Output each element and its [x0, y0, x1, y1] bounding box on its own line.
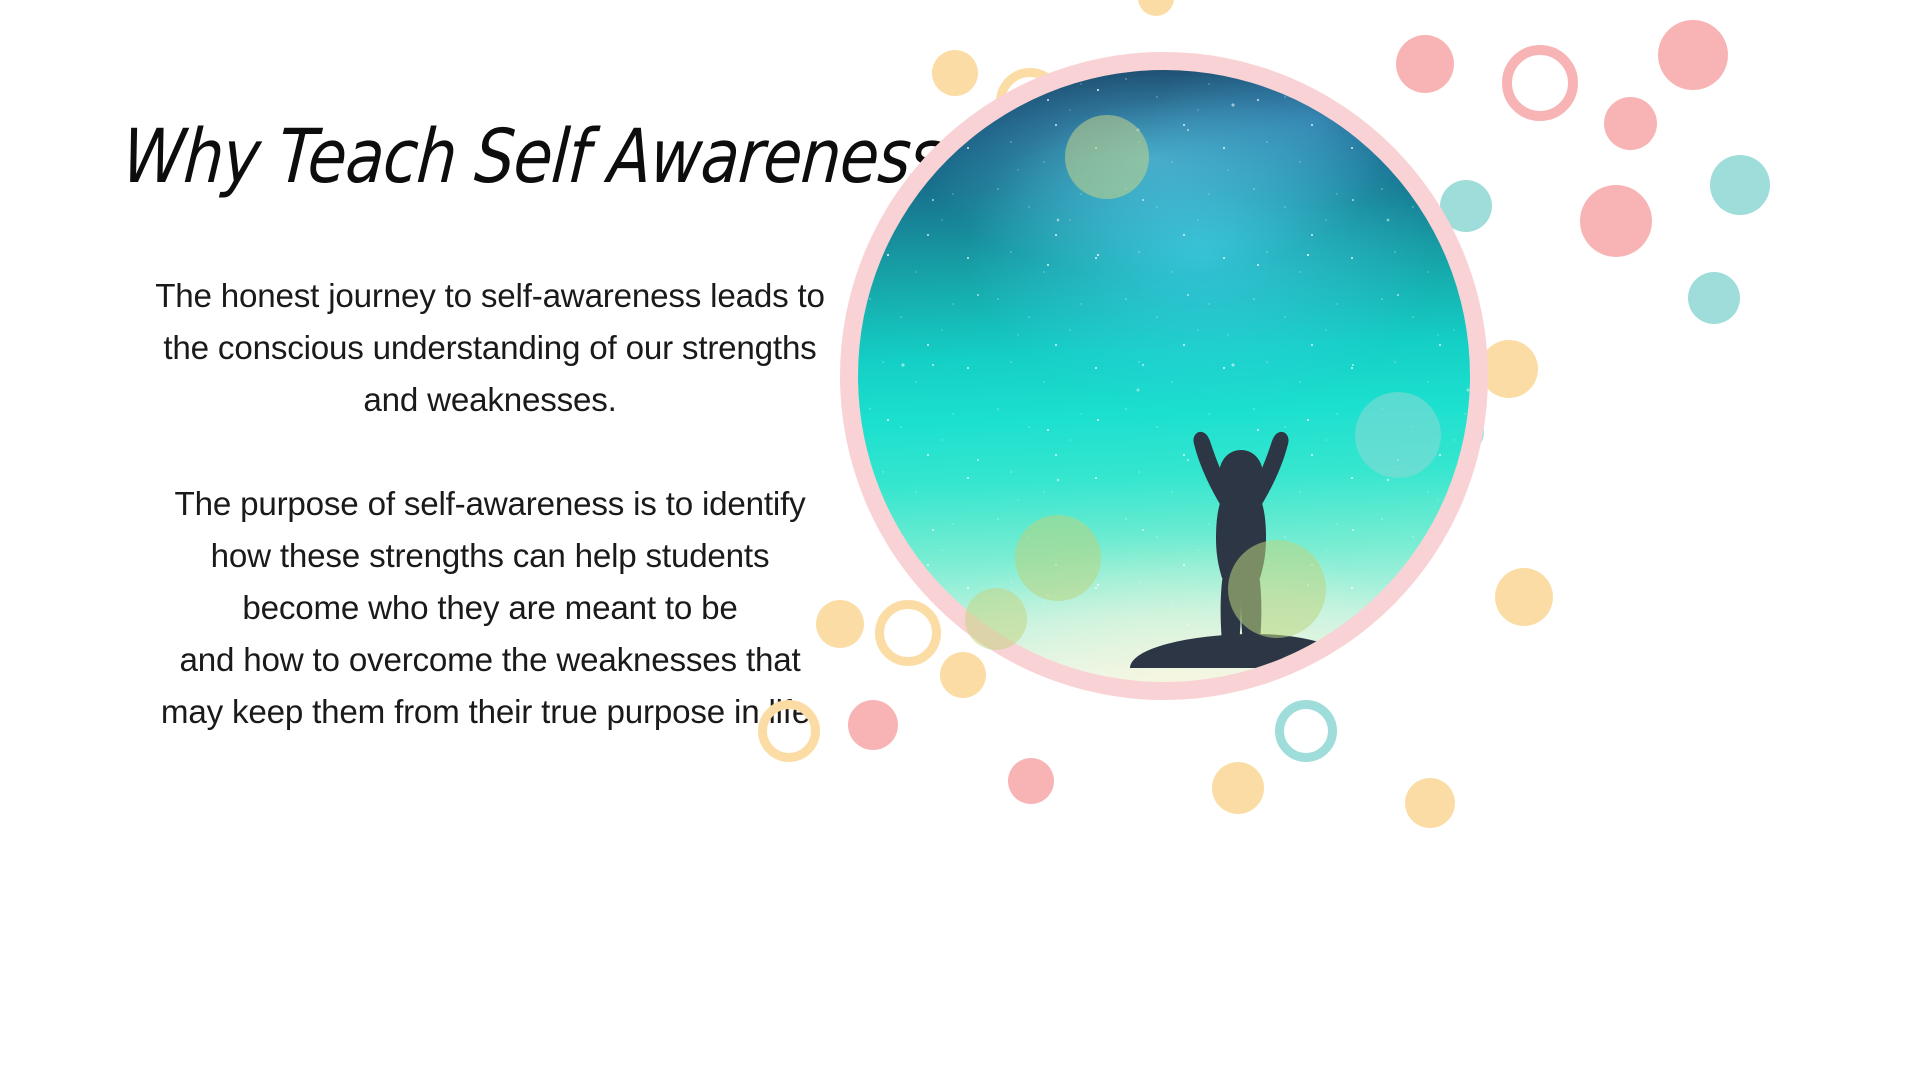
peach-dot-6	[1212, 762, 1264, 814]
salmon-dot-6	[1008, 758, 1054, 804]
teal-ring-1	[1275, 700, 1337, 762]
peach-dot-5	[1495, 568, 1553, 626]
green-dot-on-photo-1	[1065, 115, 1149, 199]
peach-dot-10	[1138, 0, 1174, 16]
salmon-dot-4	[1580, 185, 1652, 257]
salmon-dot-2	[1604, 97, 1657, 150]
body-paragraph-1: The honest journey to self-awareness lea…	[99, 271, 881, 427]
paragraph-2-line-4: and how to overcome the weaknesses that	[99, 635, 881, 687]
green-dot-on-photo-3	[965, 588, 1027, 650]
paragraph-1-line-3: and weaknesses.	[99, 375, 881, 427]
paragraph-2-line-2: how these strengths can help students	[99, 531, 881, 583]
teal-dot-3	[1710, 155, 1770, 215]
galaxy-sky-photo	[858, 70, 1470, 682]
teal-dot-on-photo-1	[1355, 392, 1441, 478]
circular-photo-frame	[840, 52, 1488, 700]
body-paragraph-2: The purpose of self-awareness is to iden…	[99, 479, 881, 739]
peach-dot-7	[1405, 778, 1455, 828]
page-title: Why Teach Self Awareness?	[92, 113, 888, 199]
paragraph-1-line-2: the conscious understanding of our stren…	[99, 323, 881, 375]
peach-dot-8	[816, 600, 864, 648]
green-dot-on-photo-4	[1228, 540, 1326, 638]
salmon-dot-3	[1658, 20, 1728, 90]
peach-ring-3	[758, 700, 820, 762]
salmon-dot-5	[848, 700, 898, 750]
decorative-artwork-cluster	[780, 0, 1920, 1080]
paragraph-spacer	[95, 427, 885, 479]
salmon-ring-1	[1502, 45, 1578, 121]
paragraph-2-line-1: The purpose of self-awareness is to iden…	[99, 479, 881, 531]
presentation-slide: Why Teach Self Awareness? The honest jou…	[0, 0, 1920, 1080]
green-dot-on-photo-2	[1015, 515, 1101, 601]
peach-dot-4	[1480, 340, 1538, 398]
teal-dot-4	[1688, 272, 1740, 324]
paragraph-1-line-1: The honest journey to self-awareness lea…	[99, 271, 881, 323]
text-column: Why Teach Self Awareness? The honest jou…	[95, 120, 885, 739]
paragraph-2-line-3: become who they are meant to be	[99, 583, 881, 635]
